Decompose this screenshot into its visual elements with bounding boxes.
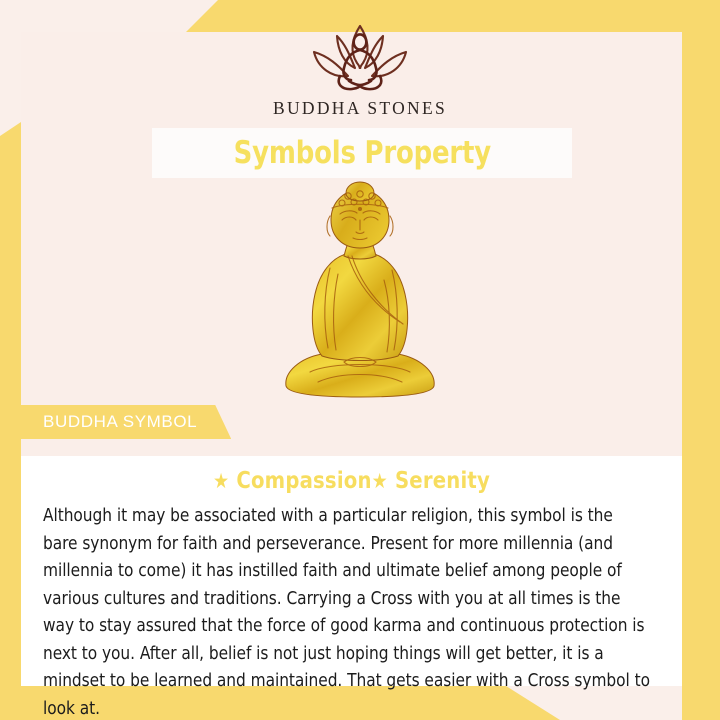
brand-block: BUDDHA STONES bbox=[0, 18, 720, 119]
title-banner: Symbols Property bbox=[152, 128, 572, 178]
star-icon-1: ★ bbox=[213, 469, 229, 493]
body-paragraph: Although it may be associated with a par… bbox=[43, 503, 651, 720]
star-icon-2: ★ bbox=[372, 469, 388, 493]
brand-name: BUDDHA STONES bbox=[0, 98, 720, 119]
attribute-serenity: Serenity bbox=[395, 468, 490, 494]
buddha-symbol-tag: BUDDHA SYMBOL bbox=[21, 405, 231, 439]
attribute-compassion: Compassion bbox=[236, 468, 371, 494]
buddha-illustration bbox=[0, 176, 720, 406]
seated-buddha-statue-icon bbox=[260, 176, 460, 406]
content-card: ★ Compassion★ Serenity Although it may b… bbox=[21, 456, 682, 686]
poster-root: BUDDHA STONES Symbols Property bbox=[0, 0, 720, 720]
lotus-meditation-icon bbox=[280, 18, 440, 96]
buddha-symbol-tag-label: BUDDHA SYMBOL bbox=[43, 412, 197, 432]
attributes-subtitle: ★ Compassion★ Serenity bbox=[58, 468, 644, 494]
page-title: Symbols Property bbox=[233, 135, 490, 171]
